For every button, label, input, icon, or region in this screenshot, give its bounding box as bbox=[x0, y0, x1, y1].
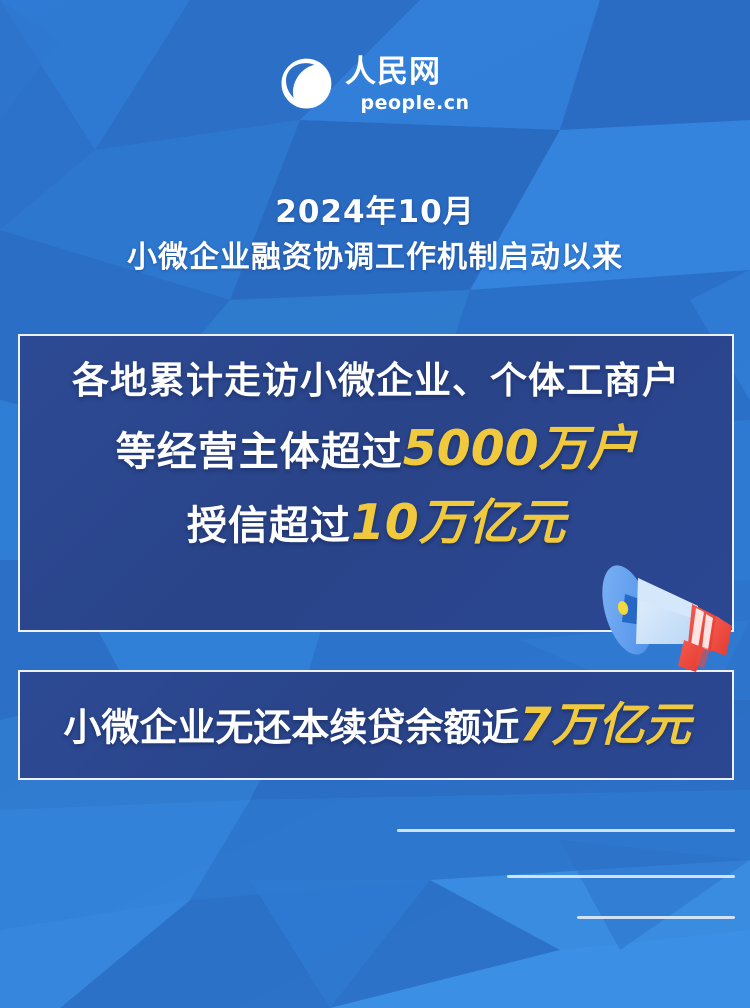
statement-renewal: 小微企业无还本续贷余额近7万亿元 bbox=[32, 700, 722, 751]
headline-line-2: 小微企业融资协调工作机制启动以来 bbox=[0, 238, 750, 277]
page-title: 2024年10月 小微企业融资协调工作机制启动以来 bbox=[0, 193, 750, 277]
statement-visits: 各地累计走访小微企业、个体工商户 bbox=[20, 360, 732, 403]
panel-a-statements: 各地累计走访小微企业、个体工商户 等经营主体超过5000万户 授信超过10万亿元 bbox=[20, 360, 732, 551]
statement-entities: 等经营主体超过5000万户 bbox=[20, 421, 732, 477]
statement-credit-value: 10万亿元 bbox=[351, 494, 565, 551]
people-globe-icon bbox=[278, 56, 334, 112]
decor-rule-short bbox=[577, 916, 735, 919]
logo-wordmark-en: people.cn bbox=[361, 94, 470, 113]
decor-rule-long bbox=[397, 829, 735, 832]
infographic-poster: 人民网 people.cn 2024年10月 小微企业融资协调工作机制启动以来 … bbox=[0, 0, 750, 1008]
megaphone-icon bbox=[592, 548, 750, 674]
statement-visits-text: 各地累计走访小微企业、个体工商户 bbox=[72, 359, 680, 402]
panel-renewal-balance: 小微企业无还本续贷余额近7万亿元 bbox=[18, 670, 734, 780]
logo-wordmark-cn: 人民网 bbox=[345, 54, 473, 90]
statement-credit: 授信超过10万亿元 bbox=[20, 495, 732, 551]
decor-rule-medium bbox=[507, 875, 735, 878]
statement-renewal-value: 7万亿元 bbox=[519, 698, 690, 752]
statement-entities-value: 5000万户 bbox=[403, 420, 636, 477]
svg-text:人民网: 人民网 bbox=[345, 54, 441, 90]
statement-credit-text: 授信超过 bbox=[187, 503, 351, 549]
panel-b-statements: 小微企业无还本续贷余额近7万亿元 bbox=[32, 700, 722, 751]
statement-entities-text: 等经营主体超过 bbox=[116, 429, 403, 475]
site-logo[interactable]: 人民网 people.cn bbox=[0, 54, 750, 113]
statement-renewal-text: 小微企业无还本续贷余额近 bbox=[63, 706, 519, 750]
headline-line-1: 2024年10月 bbox=[0, 193, 750, 233]
